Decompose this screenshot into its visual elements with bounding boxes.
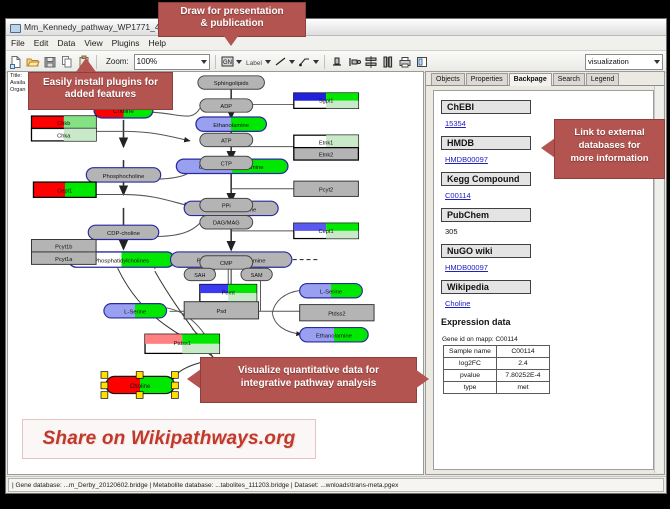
gene-label: Etnk2 — [319, 153, 334, 159]
node-label: PPi — [222, 203, 231, 209]
node-adp[interactable]: ADP — [200, 99, 253, 112]
callout-visualize-line2: integrative pathway analysis — [201, 377, 416, 390]
chevron-down-icon — [265, 60, 271, 64]
db-value-pubchem: 305 — [445, 227, 653, 236]
callout-external-databases: Link to external databases for more info… — [554, 119, 665, 179]
node-label: Phosphocholine — [103, 174, 145, 180]
node-label: Ethanolamine — [316, 334, 352, 340]
db-header-chebi: ChEBI — [441, 100, 531, 114]
gene-label: Chkb — [57, 121, 70, 127]
gene-cept1-left[interactable]: Cept1 — [33, 182, 96, 197]
callout-plugins-line1: Easily install plugins for — [29, 77, 172, 89]
zoom-combo[interactable]: 100% — [134, 54, 210, 70]
expr-key: pvalue — [444, 370, 497, 382]
screenshot-root: Draw for presentation & publication Mm_K… — [0, 0, 670, 509]
node-label: Phosphatidylcholines — [94, 259, 149, 265]
db-header-kegg-compound: Kegg Compound — [441, 172, 531, 186]
node-l-serine-right[interactable]: L-Serine — [300, 284, 363, 298]
menu-bar: File Edit Data View Plugins Help — [6, 36, 666, 51]
expr-key: Sample name — [444, 346, 497, 358]
line-tool[interactable] — [274, 55, 295, 68]
align-left-icon[interactable] — [347, 55, 361, 69]
db-header-pubchem: PubChem — [441, 208, 531, 222]
node-label: ATP — [221, 138, 232, 144]
gene-label: Sgpl1 — [319, 99, 334, 105]
interaction-tool[interactable] — [298, 55, 319, 68]
gene-chkb[interactable]: Chkb — [31, 116, 96, 128]
gene-pcyt1a[interactable]: Pcyt1a — [31, 252, 96, 264]
gene-label: Pcyt2 — [319, 188, 333, 194]
node-cdp-choline[interactable]: CDP-choline — [88, 225, 158, 239]
gene-pcyt1b[interactable]: Pcyt1b — [31, 240, 96, 252]
callout-draw-line1: Draw for presentation — [159, 6, 305, 18]
align-top-icon[interactable] — [330, 55, 344, 69]
node-sphingolipids[interactable]: Sphingolipids — [198, 76, 265, 89]
node-label: SAM — [251, 273, 263, 279]
gene-chka[interactable]: Chka — [31, 128, 96, 140]
expr-key: log2FC — [444, 358, 497, 370]
gene-label: Pcyt1b — [55, 245, 72, 251]
expression-data-title: Expression data — [441, 317, 653, 327]
gene-label: Cept1 — [319, 229, 334, 235]
node-ctp[interactable]: CTP — [200, 156, 253, 169]
status-bar: | Gene database: ...m_Derby_20120602.bri… — [6, 476, 666, 493]
status-text: | Gene database: ...m_Derby_20120602.bri… — [8, 478, 664, 492]
node-label: CTP — [221, 161, 233, 167]
canvas-info-organism: Organ — [10, 87, 26, 94]
gene-label: Pcyt1a — [55, 257, 73, 263]
db-header-nugo-wiki: NuGO wiki — [441, 244, 531, 258]
gene-label: Cept1 — [57, 189, 72, 195]
zoom-label: Zoom: — [106, 57, 129, 66]
svg-text:Label: Label — [246, 60, 262, 67]
callout-visualize-arrow-right — [415, 369, 429, 389]
share-banner: Share on Wikipathways.org — [22, 419, 316, 459]
canvas-info-labels: Title: Availa Organ — [10, 73, 26, 94]
node-label: SAH — [194, 273, 205, 279]
menu-item-file[interactable]: File — [11, 38, 25, 48]
node-ethanolamine-lower[interactable]: Ethanolamine — [300, 328, 369, 342]
gene-pcyt2[interactable]: Pcyt2 — [294, 181, 359, 196]
gene-ptdss2[interactable]: Ptdss2 — [300, 305, 374, 321]
gene-label: Ptdss1 — [174, 341, 191, 347]
node-label: DAG/MAG — [213, 221, 240, 227]
node-label: ADP — [220, 104, 232, 110]
expr-value: 2.4 — [497, 358, 550, 370]
callout-draw-arrow — [221, 32, 241, 46]
tab-backpage[interactable]: Backpage — [509, 73, 552, 86]
callout-install-plugins: Easily install plugins for added feature… — [28, 72, 173, 110]
gene-label: Pemt — [222, 291, 236, 297]
callout-draw-line2: & publication — [159, 18, 305, 30]
db-header-hmdb: HMDB — [441, 136, 531, 150]
gene-label: Ptdss2 — [328, 312, 345, 318]
new-file-icon[interactable] — [9, 55, 23, 69]
gene-etnk1[interactable]: Etnk1 — [294, 135, 359, 147]
node-label: Sphingolipids — [214, 81, 249, 87]
node-label: Choline — [113, 109, 134, 115]
node-label: CDP-choline — [107, 231, 140, 237]
gene-cept1-right[interactable]: Cept1 — [294, 223, 359, 238]
callout-visualize-line1: Visualize quantitative data for — [201, 364, 416, 377]
callout-visualize-arrow-left — [187, 369, 201, 389]
table-row: log2FC 2.4 — [444, 358, 550, 370]
canvas-info-title: Title: — [10, 73, 26, 80]
visualization-value: visualization — [588, 57, 629, 66]
node-sah[interactable]: SAH — [184, 268, 215, 280]
pathway-graph: Choline Phosphocholine CDP-choline — [8, 72, 423, 474]
db-link-wikipedia[interactable]: Choline — [445, 299, 653, 308]
node-cmp[interactable]: CMP — [200, 256, 253, 269]
tab-objects[interactable]: Objects — [431, 73, 465, 85]
gene-pemt[interactable]: Pemt — [200, 284, 257, 301]
stack-center-icon[interactable] — [364, 55, 378, 69]
callout-plugins-arrow — [76, 58, 96, 72]
table-row: type met — [444, 382, 550, 394]
table-row: Sample name C00114 — [444, 346, 550, 358]
callout-link-line3: more information — [555, 152, 664, 165]
gene-ptdss1[interactable]: Ptdss1 — [145, 334, 219, 353]
node-choline-selected[interactable]: Choline — [101, 372, 178, 399]
chevron-down-icon — [236, 60, 242, 64]
callout-link-line1: Link to external — [555, 126, 664, 139]
db-header-wikipedia: Wikipedia — [441, 280, 531, 294]
expr-value: 7.80252E-4 — [497, 370, 550, 382]
toolbar-separator-2 — [215, 55, 216, 69]
expr-value: C00114 — [497, 346, 550, 358]
menu-item-data[interactable]: Data — [57, 38, 75, 48]
gene-etnk2[interactable]: Etnk2 — [294, 148, 359, 160]
callout-plugins-line2: added features — [29, 89, 172, 101]
node-dag-mag[interactable]: DAG/MAG — [200, 216, 253, 229]
svg-text:GN: GN — [223, 60, 232, 66]
callout-link-line2: databases for — [555, 139, 664, 152]
node-label: L-Serine — [124, 310, 146, 316]
gene-id-on-mapp: Gene id on mapp: C00114 — [442, 336, 653, 343]
toolbar-separator-1 — [96, 55, 97, 69]
node-sam[interactable]: SAM — [241, 268, 272, 280]
node-label: Choline — [130, 384, 151, 390]
toolbar-separator-3 — [324, 55, 325, 69]
gene-label: Psd — [216, 309, 226, 315]
expr-value: met — [497, 382, 550, 394]
callout-link-arrow — [541, 138, 555, 158]
tab-properties[interactable]: Properties — [466, 73, 508, 85]
node-label: L-Serine — [320, 290, 342, 296]
db-link-nugo-wiki[interactable]: HMDB00097 — [445, 263, 653, 272]
node-l-serine-left[interactable]: L-Serine — [104, 304, 167, 318]
node-atp[interactable]: ATP — [200, 133, 253, 146]
gene-psd[interactable]: Psd — [184, 302, 258, 319]
chevron-down-icon — [654, 60, 660, 64]
menu-item-edit[interactable]: Edit — [34, 38, 49, 48]
node-ethanolamine-top[interactable]: Ethanolamine — [196, 117, 266, 131]
title-bar: Mm_Kennedy_pathway_WP1771_45176.gpml — [6, 19, 666, 36]
node-phosphocholine[interactable]: Phosphocholine — [86, 168, 160, 182]
pathway-canvas[interactable]: Title: Availa Organ — [7, 71, 424, 475]
chevron-down-icon — [201, 60, 207, 64]
expression-table: Sample name C00114 log2FC 2.4 pvalue 7.8… — [443, 345, 550, 394]
fit-page-icon[interactable] — [415, 55, 429, 69]
db-link-kegg-compound[interactable]: C00114 — [445, 191, 653, 200]
print-icon[interactable] — [398, 55, 412, 69]
share-text: Share on Wikipathways.org — [43, 428, 296, 450]
menu-item-help[interactable]: Help — [149, 38, 166, 48]
common-width-icon[interactable] — [381, 55, 395, 69]
zoom-value: 100% — [137, 57, 157, 66]
expr-key: type — [444, 382, 497, 394]
visualization-combo[interactable]: visualization — [585, 54, 663, 70]
app-icon — [9, 22, 20, 33]
node-label: Ethanolamine — [213, 123, 249, 129]
datanode-tool[interactable]: GN — [221, 55, 242, 68]
chevron-down-icon — [313, 60, 319, 64]
tab-search[interactable]: Search — [553, 73, 585, 85]
gene-sgpl1[interactable]: Sgpl1 — [294, 93, 359, 108]
tab-legend[interactable]: Legend — [586, 73, 619, 85]
callout-visualize-data: Visualize quantitative data for integrat… — [200, 357, 417, 403]
label-tool[interactable]: Label — [245, 56, 271, 68]
gene-label: Chka — [57, 134, 71, 140]
canvas-info-availab: Availa — [10, 80, 26, 87]
panel-tabs: Objects Properties Backpage Search Legen… — [426, 72, 664, 86]
table-row: pvalue 7.80252E-4 — [444, 370, 550, 382]
copy-icon[interactable] — [60, 55, 74, 69]
menu-item-plugins[interactable]: Plugins — [112, 38, 140, 48]
folder-open-icon[interactable] — [26, 55, 40, 69]
gene-label: Etnk1 — [319, 140, 334, 146]
menu-item-view[interactable]: View — [84, 38, 102, 48]
save-disk-icon[interactable] — [43, 55, 57, 69]
node-ppi[interactable]: PPi — [200, 198, 253, 211]
node-label: CMP — [220, 261, 233, 267]
chevron-down-icon — [289, 60, 295, 64]
